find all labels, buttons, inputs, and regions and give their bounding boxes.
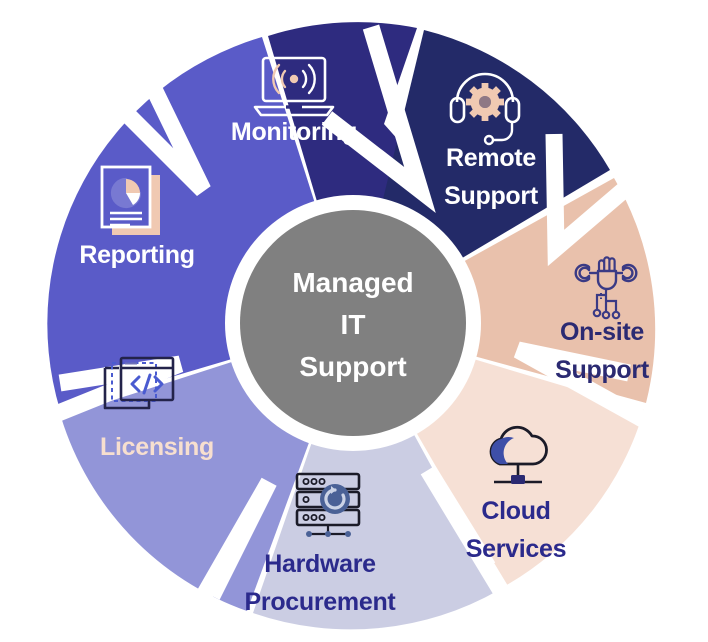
segment-label-cloud-services-line2: Services <box>466 535 566 563</box>
report-piechart-icon <box>102 167 160 235</box>
segment-label-on-site-support-line1: On-site <box>560 318 644 346</box>
segment-label-on-site-support-line2: Support <box>555 356 650 384</box>
center-label-line2: IT <box>341 309 366 340</box>
segment-label-monitoring: Monitoring <box>231 118 357 146</box>
segment-label-remote-support-line1: Remote <box>446 144 536 172</box>
segment-label-reporting: Reporting <box>79 241 194 269</box>
center-label-line1: Managed <box>292 267 413 298</box>
segment-label-cloud-services-line1: Cloud <box>481 497 550 525</box>
segment-label-licensing: Licensing <box>100 433 214 461</box>
center-label-line3: Support <box>299 351 406 382</box>
segment-label-hardware-procurement-line2: Procurement <box>245 588 397 616</box>
managed-it-support-wheel-diagram: Managed IT Support <box>0 0 708 642</box>
segment-label-remote-support-line2: Support <box>444 182 539 210</box>
segment-label-hardware-procurement-line1: Hardware <box>264 550 376 578</box>
wheel-svg: Managed IT Support <box>0 0 708 642</box>
